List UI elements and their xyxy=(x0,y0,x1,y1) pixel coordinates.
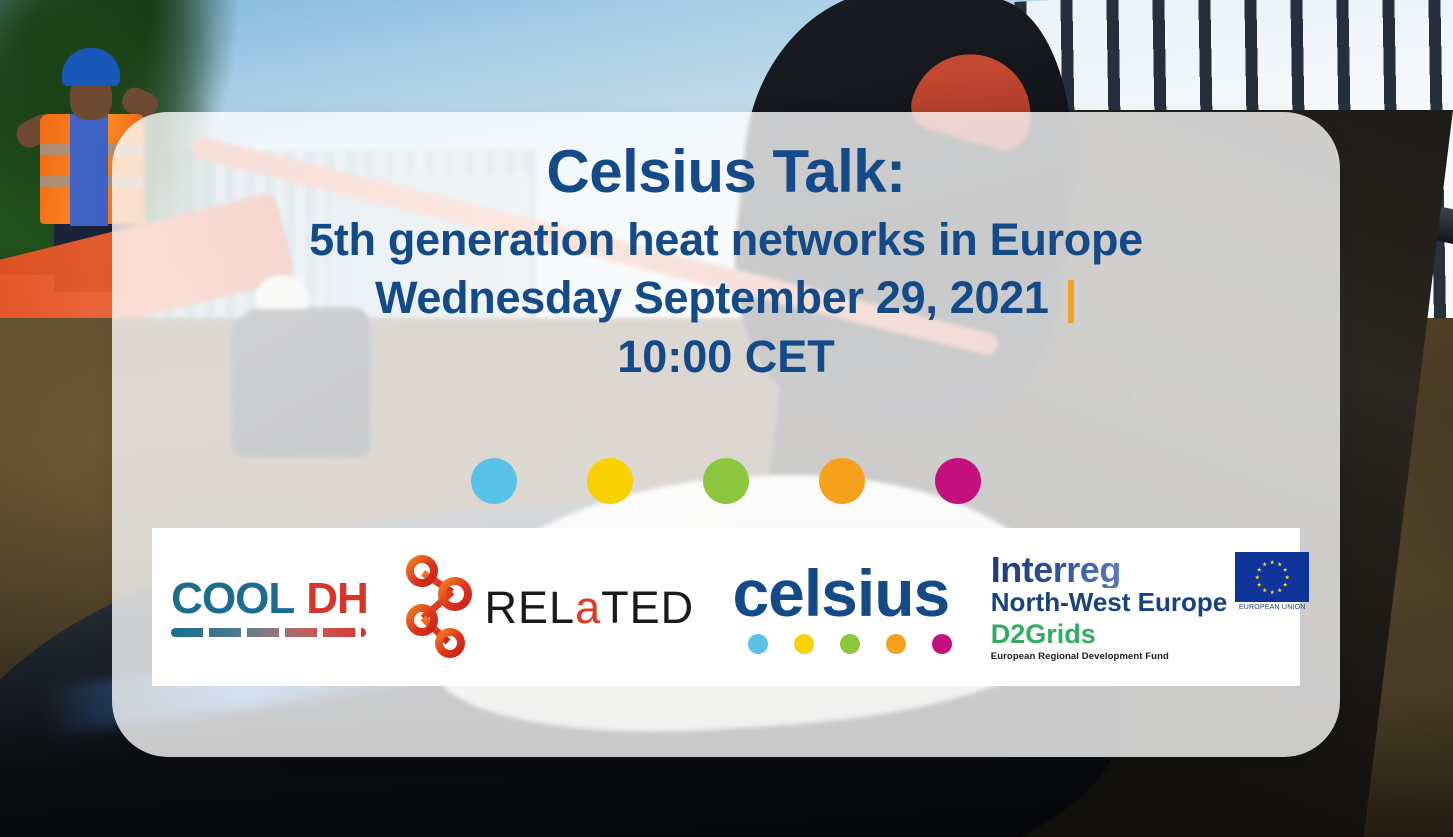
brand-dot-row xyxy=(112,458,1340,504)
related-node-icon xyxy=(405,554,475,660)
content-card: Celsius Talk: 5th generation heat networ… xyxy=(112,112,1340,757)
related-text-prefix: REL xyxy=(485,582,576,633)
eu-star xyxy=(1270,560,1275,565)
headline-block: Celsius Talk: 5th generation heat networ… xyxy=(112,134,1340,386)
interreg-region: North-West Europe xyxy=(991,588,1227,618)
interreg-programme: D2Grids xyxy=(991,620,1281,650)
eu-star xyxy=(1257,567,1262,572)
related-text-suffix: TED xyxy=(601,582,694,633)
event-subtitle: 5th generation heat networks in Europe xyxy=(112,211,1340,270)
event-date-line: Wednesday September 29, 2021| xyxy=(112,269,1340,328)
celsius-dot-5 xyxy=(932,634,952,654)
related-text-accent: a xyxy=(575,582,601,633)
eu-flag-stars xyxy=(1235,552,1309,602)
eu-star xyxy=(1277,562,1282,567)
logo-interreg: Interreg North-West Europe EUROPEAN UNIO… xyxy=(991,552,1281,662)
eu-flag-icon: EUROPEAN UNION xyxy=(1235,552,1309,611)
eu-star xyxy=(1283,582,1288,587)
dot-yellow xyxy=(587,458,633,504)
interreg-wordmark: Interreg xyxy=(991,552,1227,588)
eu-star xyxy=(1255,575,1260,580)
event-time: 10:00 CET xyxy=(112,328,1340,387)
celsius-dot-2 xyxy=(794,634,814,654)
logo-related: RELaTED xyxy=(405,554,695,660)
celsius-dot-row xyxy=(732,634,952,654)
eu-star xyxy=(1257,582,1262,587)
date-separator-icon: | xyxy=(1049,272,1077,323)
cooldh-dh-text: DH xyxy=(294,574,368,623)
celsius-dot-1 xyxy=(748,634,768,654)
celsius-wordmark: celsius xyxy=(732,560,952,626)
partner-logo-strip: COOLDH xyxy=(152,528,1300,686)
eu-star xyxy=(1277,588,1282,593)
celsius-dot-4 xyxy=(886,634,906,654)
celsius-dot-3 xyxy=(840,634,860,654)
dot-blue xyxy=(471,458,517,504)
logo-cooldh: COOLDH xyxy=(171,577,366,637)
eu-star xyxy=(1270,590,1275,595)
eu-star xyxy=(1262,562,1267,567)
dot-orange xyxy=(819,458,865,504)
eu-flag-caption: EUROPEAN UNION xyxy=(1235,604,1309,611)
eu-star xyxy=(1283,567,1288,572)
event-promo-poster: Celsius Talk: 5th generation heat networ… xyxy=(0,0,1453,837)
dot-magenta xyxy=(935,458,981,504)
cooldh-cool-text: COOL xyxy=(171,574,294,623)
event-date: Wednesday September 29, 2021 xyxy=(375,272,1049,323)
logo-celsius: celsius xyxy=(732,560,952,654)
cooldh-gradient-bar-icon xyxy=(171,628,366,637)
event-title: Celsius Talk: xyxy=(112,134,1340,211)
interreg-fund-note: European Regional Development Fund xyxy=(991,651,1281,662)
eu-star xyxy=(1262,588,1267,593)
dot-green xyxy=(703,458,749,504)
eu-star xyxy=(1285,575,1290,580)
